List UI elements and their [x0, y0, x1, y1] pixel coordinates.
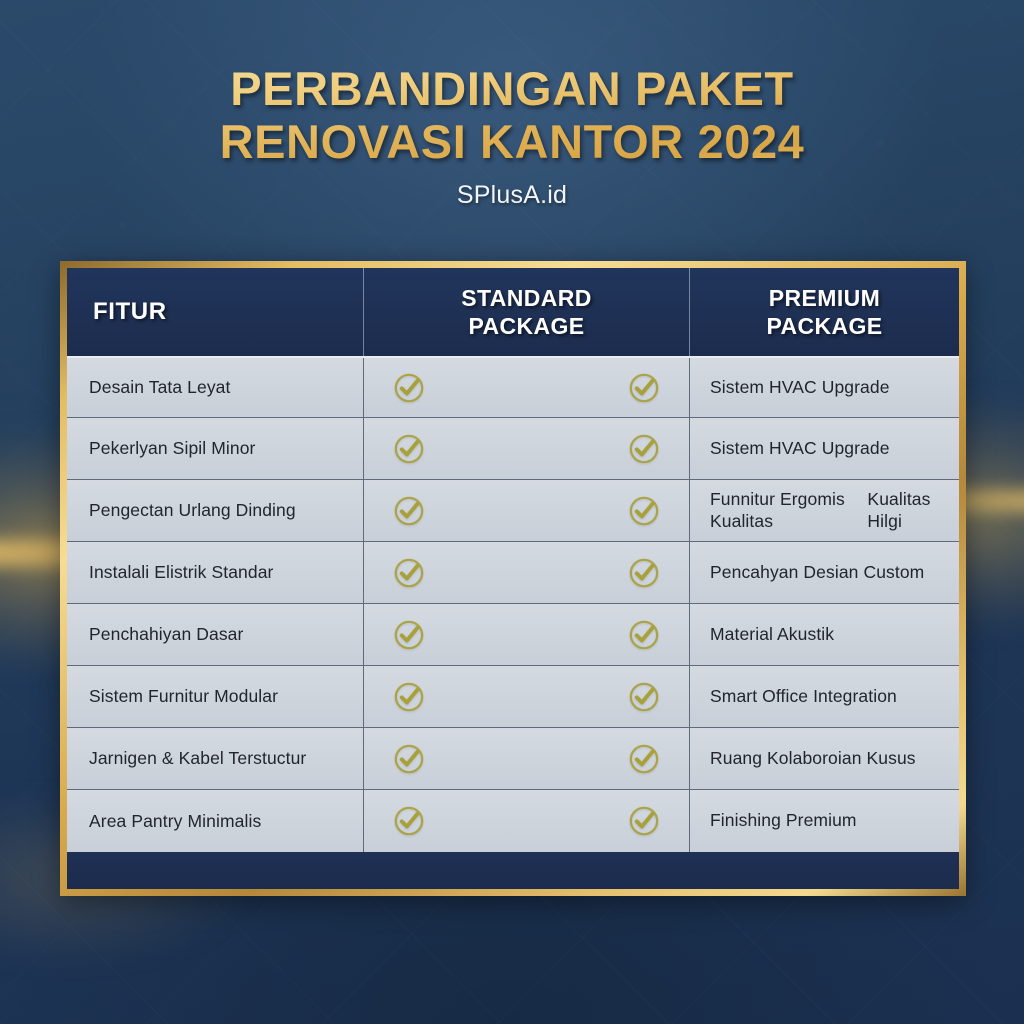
cell-premium-feature: Sistem HVAC Upgrade — [689, 418, 959, 479]
cell-premium-feature: Smart Office Integration — [689, 666, 959, 727]
check-circle-icon — [392, 618, 426, 652]
table-row: Area Pantry Minimalis Finishing Premium — [67, 790, 959, 852]
cell-premium-feature: Finishing Premium — [689, 790, 959, 852]
column-header-premium-package: PREMIUM PACKAGE — [689, 268, 959, 356]
check-circle-icon — [627, 742, 661, 776]
cell-standard-check — [363, 728, 689, 789]
cell-feature: Penchahiyan Dasar — [67, 604, 363, 665]
page-title: PERBANDINGAN PAKET RENOVASI KANTOR 2024 — [0, 62, 1024, 168]
check-circle-icon — [627, 680, 661, 714]
cell-standard-check — [363, 542, 689, 603]
check-circle-icon — [392, 804, 426, 838]
check-circle-icon — [392, 371, 426, 405]
cell-standard-check — [363, 480, 689, 541]
table-footer-strip — [67, 852, 959, 889]
column-header-premium-line-1: PREMIUM — [766, 284, 882, 312]
cell-feature: Jarnigen & Kabel Terstuctur — [67, 728, 363, 789]
cell-standard-check — [363, 358, 689, 417]
column-header-standard-package: STANDARD PACKAGE — [363, 268, 689, 356]
check-circle-icon — [627, 371, 661, 405]
brand-subtitle: SPlusA.id — [0, 181, 1024, 210]
check-circle-icon — [392, 680, 426, 714]
cell-standard-check — [363, 790, 689, 852]
column-header-premium-line-2: PACKAGE — [766, 312, 882, 340]
column-header-standard-line-2: PACKAGE — [461, 312, 592, 340]
cell-feature: Pengectan Urlang Dinding — [67, 480, 363, 541]
table-header-row: FITUR STANDARD PACKAGE PREMIUM PACKAGE — [67, 268, 959, 356]
cell-feature: Instalali Elistrik Standar — [67, 542, 363, 603]
table-row: Jarnigen & Kabel Terstuctur Ruang Kolabo… — [67, 728, 959, 790]
check-circle-icon — [627, 556, 661, 590]
table-row: Penchahiyan Dasar Material Akustik — [67, 604, 959, 666]
table-row: Pengectan Urlang Dinding Funnitur Ergomi… — [67, 480, 959, 542]
page-header: PERBANDINGAN PAKET RENOVASI KANTOR 2024 … — [0, 62, 1024, 210]
cell-feature: Area Pantry Minimalis — [67, 790, 363, 852]
check-circle-icon — [627, 494, 661, 528]
table-body: Desain Tata Leyat Sistem HVAC Upgrade Pe… — [67, 356, 959, 852]
table-row: Sistem Furnitur Modular Smart Office Int… — [67, 666, 959, 728]
page-title-line-2: RENOVASI KANTOR 2024 — [0, 115, 1024, 168]
table-row: Desain Tata Leyat Sistem HVAC Upgrade — [67, 356, 959, 418]
cell-premium-feature: Ruang Kolaboroian Kusus — [689, 728, 959, 789]
cell-premium-feature: Pencahyan Desian Custom — [689, 542, 959, 603]
check-circle-icon — [392, 494, 426, 528]
check-circle-icon — [627, 432, 661, 466]
cell-standard-check — [363, 666, 689, 727]
cell-standard-check — [363, 604, 689, 665]
comparison-table-frame: FITUR STANDARD PACKAGE PREMIUM PACKAGE D… — [60, 261, 966, 896]
table-row: Instalali Elistrik Standar Pencahyan Des… — [67, 542, 959, 604]
check-circle-icon — [392, 432, 426, 466]
premium-feature-line-2: Kualitas Hilgi — [867, 489, 947, 532]
check-circle-icon — [392, 742, 426, 776]
comparison-table: FITUR STANDARD PACKAGE PREMIUM PACKAGE D… — [67, 268, 959, 889]
column-header-fitur: FITUR — [67, 268, 363, 356]
check-circle-icon — [627, 804, 661, 838]
check-circle-icon — [627, 618, 661, 652]
cell-standard-check — [363, 418, 689, 479]
page-title-line-1: PERBANDINGAN PAKET — [0, 62, 1024, 115]
check-circle-icon — [392, 556, 426, 590]
cell-feature: Sistem Furnitur Modular — [67, 666, 363, 727]
cell-feature: Desain Tata Leyat — [67, 358, 363, 417]
cell-feature: Pekerlyan Sipil Minor — [67, 418, 363, 479]
cell-premium-feature: Funnitur Ergomis KualitasKualitas Hilgi — [689, 480, 959, 541]
table-row: Pekerlyan Sipil Minor Sistem HVAC Upgrad… — [67, 418, 959, 480]
column-header-standard-line-1: STANDARD — [461, 284, 592, 312]
premium-feature-line-1: Funnitur Ergomis Kualitas — [710, 489, 867, 532]
cell-premium-feature: Sistem HVAC Upgrade — [689, 358, 959, 417]
cell-premium-feature: Material Akustik — [689, 604, 959, 665]
